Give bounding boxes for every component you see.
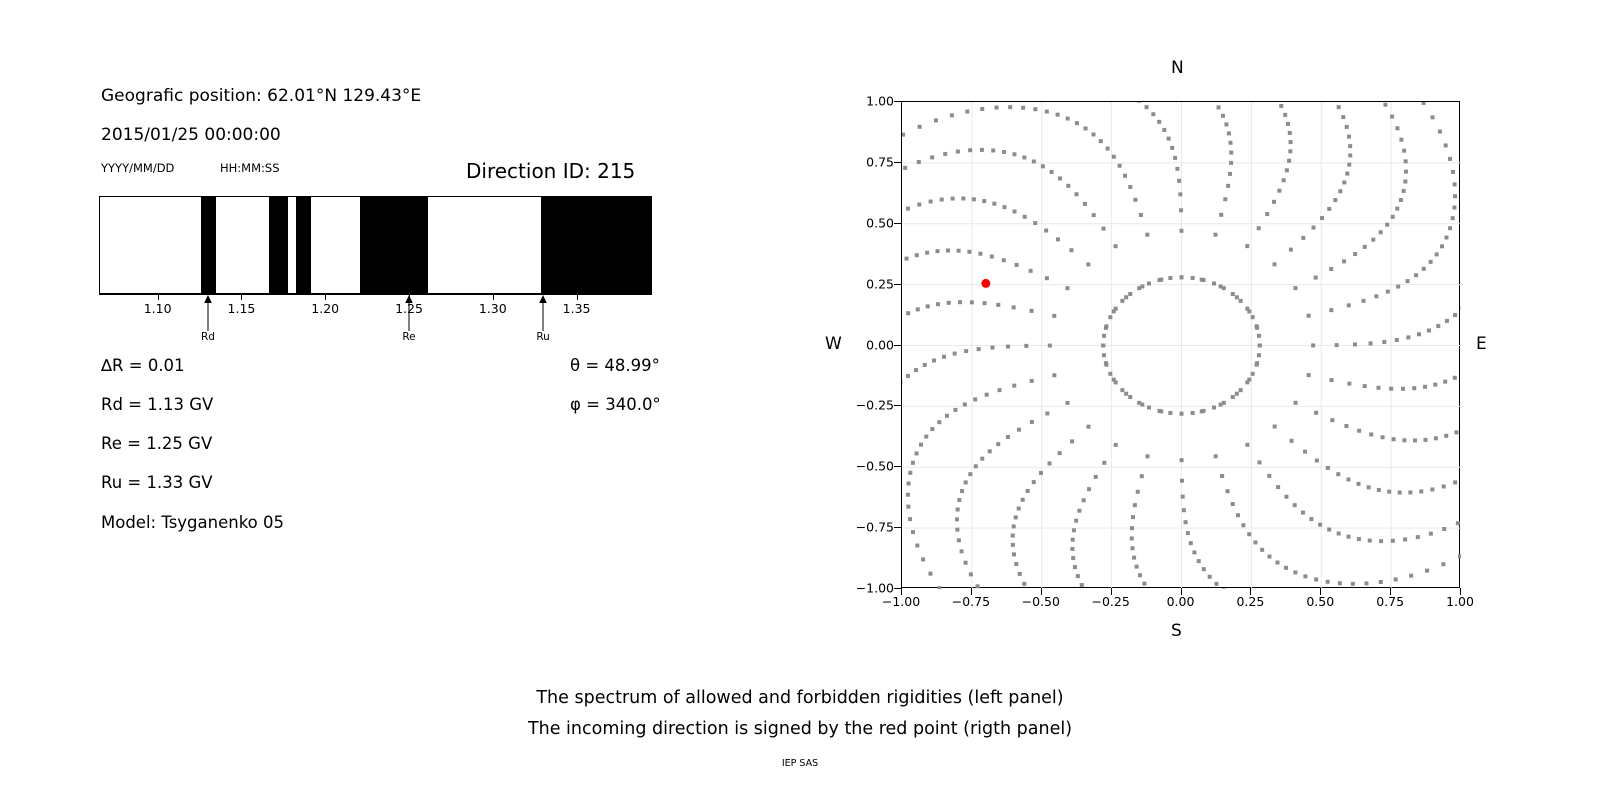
direction-point bbox=[1015, 263, 1019, 267]
direction-point bbox=[1327, 528, 1331, 532]
direction-point bbox=[1404, 159, 1408, 163]
direction-point bbox=[1347, 382, 1351, 386]
direction-point bbox=[1293, 503, 1297, 507]
direction-point bbox=[1429, 532, 1433, 536]
direction-point bbox=[1357, 429, 1361, 433]
direction-point bbox=[1208, 575, 1212, 579]
direction-point bbox=[1282, 178, 1286, 182]
direction-point bbox=[1180, 412, 1184, 416]
direction-point bbox=[978, 252, 982, 256]
direction-point bbox=[1412, 386, 1416, 390]
direction-point bbox=[988, 449, 992, 453]
direction-point bbox=[1379, 580, 1383, 584]
direction-point bbox=[1422, 102, 1426, 105]
direction-point bbox=[968, 148, 972, 152]
delta-r-value: ∆R = 0.01 bbox=[101, 358, 185, 375]
direction-point bbox=[1124, 392, 1128, 396]
direction-point bbox=[1251, 315, 1255, 319]
direction-point bbox=[1445, 319, 1449, 323]
direction-point bbox=[1022, 155, 1026, 159]
direction-point bbox=[1197, 559, 1201, 563]
direction-point bbox=[1341, 115, 1345, 119]
direction-point bbox=[1251, 372, 1255, 376]
direction-point bbox=[1058, 176, 1062, 180]
direction-point bbox=[1395, 126, 1399, 130]
direction-point bbox=[1139, 213, 1143, 217]
direction-point bbox=[1330, 418, 1334, 422]
direction-point bbox=[1451, 216, 1455, 220]
direction-point bbox=[1223, 197, 1227, 201]
direction-point bbox=[955, 528, 959, 532]
direction-point bbox=[1048, 461, 1052, 465]
direction-point bbox=[1170, 146, 1174, 150]
direction-point bbox=[1012, 152, 1016, 156]
direction-point bbox=[1401, 387, 1405, 391]
direction-point bbox=[1403, 179, 1407, 183]
direction-point bbox=[967, 250, 971, 254]
x-tick-label: 0.00 bbox=[1167, 594, 1195, 609]
direction-point bbox=[980, 457, 984, 461]
direction-point bbox=[1074, 519, 1078, 523]
direction-point bbox=[1395, 338, 1399, 342]
direction-point bbox=[1307, 373, 1311, 377]
direction-point bbox=[1159, 409, 1163, 413]
direction-point bbox=[1056, 113, 1060, 117]
direction-point bbox=[1130, 526, 1134, 530]
direction-point bbox=[930, 155, 934, 159]
direction-point bbox=[1080, 583, 1084, 587]
direction-point bbox=[1108, 372, 1112, 376]
direction-point bbox=[1345, 172, 1349, 176]
direction-point bbox=[1145, 233, 1149, 237]
y-tick-label: 0.75 bbox=[866, 154, 894, 169]
direction-point bbox=[950, 113, 954, 117]
direction-point bbox=[1404, 170, 1408, 174]
direction-point bbox=[934, 118, 938, 122]
y-tick-label: −0.50 bbox=[856, 459, 894, 474]
rd-value: Rd = 1.13 GV bbox=[101, 397, 213, 414]
rigidity-tick-label: 1.15 bbox=[228, 301, 256, 316]
direction-point bbox=[1219, 284, 1223, 288]
direction-point bbox=[902, 133, 905, 137]
direction-point bbox=[942, 355, 946, 359]
direction-point bbox=[1335, 343, 1339, 347]
direction-point bbox=[1146, 454, 1150, 458]
direction-point bbox=[1175, 167, 1179, 171]
direction-point bbox=[1138, 573, 1142, 577]
direction-point bbox=[953, 352, 957, 356]
direction-point bbox=[970, 300, 974, 304]
rigidity-tick-label: 1.35 bbox=[563, 301, 591, 316]
direction-point bbox=[977, 347, 981, 351]
caption-line-2: The incoming direction is signed by the … bbox=[0, 721, 1600, 739]
direction-id-label: Direction ID: 215 bbox=[466, 161, 635, 181]
rigidity-tick-mark bbox=[493, 294, 494, 300]
direction-point bbox=[1124, 295, 1128, 299]
direction-point bbox=[1012, 384, 1016, 388]
direction-point bbox=[1219, 213, 1223, 217]
direction-point bbox=[1239, 299, 1243, 303]
direction-point bbox=[1030, 420, 1034, 424]
direction-point bbox=[1348, 153, 1352, 157]
direction-point bbox=[1112, 309, 1116, 313]
y-tick-label: −0.75 bbox=[856, 520, 894, 535]
direction-point bbox=[1120, 299, 1124, 303]
direction-point bbox=[1403, 537, 1407, 541]
re-value: Re = 1.25 GV bbox=[101, 436, 212, 453]
direction-point bbox=[1344, 424, 1348, 428]
direction-point bbox=[1423, 385, 1427, 389]
theta-value: θ = 48.99° bbox=[570, 358, 660, 375]
direction-point bbox=[915, 451, 919, 455]
direction-point bbox=[1444, 143, 1448, 147]
direction-point bbox=[1453, 480, 1457, 484]
direction-point bbox=[957, 538, 961, 542]
direction-point bbox=[932, 358, 936, 362]
direction-point bbox=[918, 125, 922, 129]
direction-point bbox=[1189, 541, 1193, 545]
direction-point bbox=[1399, 138, 1403, 142]
direction-point bbox=[1231, 395, 1235, 399]
direction-point bbox=[1245, 244, 1249, 248]
direction-point bbox=[1180, 458, 1184, 462]
direction-point bbox=[1140, 403, 1144, 407]
direction-point bbox=[1422, 267, 1426, 271]
direction-point bbox=[1257, 353, 1261, 357]
footer-credit: IEP SAS bbox=[0, 759, 1600, 769]
x-tick-label: −0.50 bbox=[1022, 594, 1060, 609]
direction-point bbox=[1219, 403, 1223, 407]
direction-point bbox=[1006, 345, 1010, 349]
direction-point bbox=[1286, 122, 1290, 126]
direction-point bbox=[1102, 334, 1106, 338]
direction-point bbox=[1066, 184, 1070, 188]
direction-point bbox=[1330, 378, 1334, 382]
direction-point bbox=[1287, 159, 1291, 163]
direction-point bbox=[1337, 532, 1341, 536]
y-tick-label: 0.50 bbox=[866, 215, 894, 230]
direction-point bbox=[1032, 159, 1036, 163]
direction-point bbox=[1453, 182, 1457, 186]
direction-point bbox=[1077, 509, 1081, 513]
forbidden-band bbox=[201, 197, 216, 293]
direction-point bbox=[1033, 107, 1037, 111]
direction-point bbox=[1162, 128, 1166, 132]
direction-point bbox=[1311, 343, 1315, 347]
direction-point bbox=[1104, 361, 1108, 365]
direction-point bbox=[1441, 562, 1445, 566]
direction-point bbox=[1177, 179, 1181, 183]
direction-point bbox=[1014, 562, 1018, 566]
direction-point bbox=[1017, 507, 1021, 511]
direction-point bbox=[956, 508, 960, 512]
direction-point bbox=[1395, 207, 1399, 211]
direction-point bbox=[903, 166, 907, 170]
model-value: Model: Tsyganenko 05 bbox=[101, 515, 284, 532]
direction-point bbox=[1402, 149, 1406, 153]
direction-point bbox=[1419, 489, 1423, 493]
direction-point bbox=[1357, 482, 1361, 486]
direction-point bbox=[1379, 539, 1383, 543]
incoming-direction-point bbox=[981, 279, 990, 288]
y-tick-mark bbox=[894, 162, 901, 163]
rigidity-tick-label: 1.20 bbox=[311, 301, 339, 316]
rigidity-tick-label: 1.10 bbox=[144, 301, 172, 316]
direction-point bbox=[995, 106, 999, 110]
direction-point bbox=[1013, 210, 1017, 214]
direction-point bbox=[1073, 565, 1077, 569]
forbidden-band bbox=[269, 197, 287, 293]
direction-point bbox=[1136, 490, 1140, 494]
direction-point bbox=[1002, 205, 1006, 209]
direction-point bbox=[1229, 151, 1233, 155]
direction-point bbox=[1381, 435, 1385, 439]
direction-point bbox=[1347, 163, 1351, 167]
direction-point bbox=[1070, 547, 1074, 551]
direction-point bbox=[1326, 466, 1330, 470]
direction-point bbox=[1245, 443, 1249, 447]
y-tick-mark bbox=[894, 223, 901, 224]
direction-point bbox=[1030, 379, 1034, 383]
direction-point bbox=[1118, 164, 1122, 168]
direction-point bbox=[1442, 484, 1446, 488]
direction-point bbox=[1369, 432, 1373, 436]
direction-point bbox=[1086, 262, 1090, 266]
direction-point bbox=[911, 530, 915, 534]
direction-point bbox=[1128, 395, 1132, 399]
direction-point bbox=[1327, 207, 1331, 211]
direction-point bbox=[992, 202, 996, 206]
direction-point bbox=[1311, 226, 1315, 230]
direction-point bbox=[1425, 569, 1429, 573]
direction-point bbox=[1430, 487, 1434, 491]
y-tick-mark bbox=[894, 101, 901, 102]
direction-point bbox=[1235, 392, 1239, 396]
direction-point bbox=[1443, 380, 1447, 384]
direction-point bbox=[905, 257, 909, 261]
direction-point bbox=[1363, 384, 1367, 388]
direction-point bbox=[1413, 439, 1417, 443]
direction-point bbox=[1200, 278, 1204, 282]
direction-point bbox=[1293, 286, 1297, 290]
direction-point bbox=[929, 200, 933, 204]
direction-point bbox=[1290, 439, 1294, 443]
direction-point bbox=[1442, 527, 1446, 531]
direction-point bbox=[906, 311, 910, 315]
direction-point bbox=[1151, 112, 1155, 116]
direction-point bbox=[1014, 515, 1018, 519]
direction-point bbox=[1045, 411, 1049, 415]
direction-point bbox=[1357, 537, 1361, 541]
direction-point bbox=[1289, 248, 1293, 252]
direction-point bbox=[1284, 495, 1288, 499]
direction-point bbox=[1137, 102, 1141, 103]
direction-point bbox=[1011, 543, 1015, 547]
direction-point bbox=[1406, 279, 1410, 283]
direction-point bbox=[1087, 487, 1091, 491]
geographic-position-label: Geografic position: 62.01°N 129.43°E bbox=[101, 88, 421, 105]
direction-point bbox=[1011, 534, 1015, 538]
direction-point bbox=[1065, 286, 1069, 290]
direction-point bbox=[1309, 517, 1313, 521]
direction-point bbox=[964, 349, 968, 353]
direction-point bbox=[990, 346, 994, 350]
direction-point bbox=[1382, 340, 1386, 344]
direction-point bbox=[1383, 103, 1387, 107]
direction-point bbox=[1389, 387, 1393, 391]
forbidden-band bbox=[296, 197, 311, 293]
direction-point bbox=[1202, 567, 1206, 571]
direction-point bbox=[1145, 105, 1149, 109]
direction-point bbox=[1320, 216, 1324, 220]
x-tick-label: −0.75 bbox=[952, 594, 990, 609]
rigidity-tick-mark bbox=[577, 294, 578, 300]
direction-point bbox=[1329, 267, 1333, 271]
direction-point bbox=[951, 197, 955, 201]
direction-point bbox=[1453, 376, 1457, 380]
direction-point bbox=[1294, 401, 1298, 405]
direction-point bbox=[1241, 523, 1245, 527]
direction-point bbox=[1451, 170, 1455, 174]
rigidity-spectrum-panel: Geografic position: 62.01°N 129.43°E 201… bbox=[0, 0, 760, 800]
direction-point bbox=[1396, 285, 1400, 289]
direction-point bbox=[1267, 474, 1271, 478]
direction-point bbox=[911, 461, 915, 465]
direction-point bbox=[1029, 309, 1033, 313]
direction-point bbox=[1142, 582, 1146, 586]
direction-point bbox=[1167, 137, 1171, 141]
direction-point bbox=[943, 152, 947, 156]
direction-point bbox=[1253, 540, 1257, 544]
direction-point bbox=[972, 197, 976, 201]
direction-point bbox=[1012, 552, 1016, 556]
direction-point bbox=[919, 443, 923, 447]
direction-point bbox=[1265, 212, 1269, 216]
direction-point bbox=[1066, 401, 1070, 405]
direction-point bbox=[1448, 157, 1452, 161]
direction-point bbox=[1346, 477, 1350, 481]
direction-point bbox=[961, 196, 965, 200]
direction-point bbox=[1052, 373, 1056, 377]
direction-point bbox=[1416, 535, 1420, 539]
direction-point bbox=[1018, 572, 1022, 576]
direction-point bbox=[1276, 485, 1280, 489]
direction-point bbox=[1363, 245, 1367, 249]
direction-point bbox=[1130, 546, 1134, 550]
direction-point bbox=[1231, 292, 1235, 296]
direction-point bbox=[960, 489, 964, 493]
direction-point bbox=[1402, 189, 1406, 193]
direction-point bbox=[923, 363, 927, 367]
direction-point bbox=[1212, 281, 1216, 285]
direction-point bbox=[1438, 130, 1442, 134]
x-tick-label: −1.00 bbox=[882, 594, 920, 609]
direction-point bbox=[1247, 309, 1251, 313]
direction-point bbox=[945, 414, 949, 418]
direction-point bbox=[1301, 236, 1305, 240]
direction-point bbox=[956, 150, 960, 154]
direction-point bbox=[1402, 438, 1406, 442]
direction-point bbox=[1314, 411, 1318, 415]
x-tick-label: −0.25 bbox=[1091, 594, 1129, 609]
direction-point bbox=[1347, 535, 1351, 539]
direction-point bbox=[1342, 259, 1346, 263]
direction-point bbox=[1008, 105, 1012, 109]
compass-south-label: S bbox=[1171, 623, 1182, 640]
direction-point bbox=[1448, 226, 1452, 230]
direction-point bbox=[1222, 588, 1226, 589]
direction-point bbox=[1168, 411, 1172, 415]
direction-point bbox=[1353, 342, 1357, 346]
direction-point bbox=[1391, 539, 1395, 543]
y-tick-mark bbox=[894, 405, 901, 406]
direction-point bbox=[1217, 105, 1221, 109]
direction-point bbox=[1348, 144, 1352, 148]
direction-point bbox=[1140, 474, 1144, 478]
direction-point bbox=[1006, 435, 1010, 439]
direction-point bbox=[1345, 125, 1349, 129]
direction-point bbox=[906, 505, 910, 509]
incoming-direction-panel: N S W E −1.00−0.75−0.50−0.250.000.250.50… bbox=[760, 0, 1600, 800]
direction-point bbox=[1231, 502, 1235, 506]
direction-point bbox=[1427, 329, 1431, 333]
direction-point bbox=[1041, 164, 1045, 168]
direction-point bbox=[1255, 361, 1259, 365]
direction-point bbox=[1444, 434, 1448, 438]
direction-point bbox=[1307, 314, 1311, 318]
direction-point bbox=[1039, 471, 1043, 475]
direction-point bbox=[1106, 147, 1110, 151]
direction-point bbox=[925, 251, 929, 255]
direction-point bbox=[1436, 324, 1440, 328]
direction-point bbox=[1133, 198, 1137, 202]
direction-point bbox=[1184, 520, 1188, 524]
direction-point bbox=[1368, 539, 1372, 543]
direction-point bbox=[906, 493, 910, 497]
date-format-hint: YYYY/MM/DD bbox=[101, 163, 174, 175]
direction-point bbox=[1452, 206, 1456, 210]
y-tick-mark bbox=[894, 527, 901, 528]
direction-point bbox=[963, 402, 967, 406]
direction-point bbox=[1048, 344, 1052, 348]
direction-point bbox=[1023, 215, 1027, 219]
direction-point bbox=[1275, 561, 1279, 565]
y-tick-label: 0.00 bbox=[866, 337, 894, 352]
direction-point bbox=[1099, 139, 1103, 143]
direction-point bbox=[1409, 574, 1413, 578]
direction-point bbox=[1260, 548, 1264, 552]
direction-point bbox=[1024, 344, 1028, 348]
direction-point bbox=[947, 301, 951, 305]
forbidden-band bbox=[360, 197, 429, 293]
direction-point bbox=[1029, 269, 1033, 273]
direction-point bbox=[957, 249, 961, 253]
direction-point bbox=[973, 397, 977, 401]
rigidity-tick-mark bbox=[325, 294, 326, 300]
direction-point bbox=[908, 517, 912, 521]
direction-point bbox=[1082, 498, 1086, 502]
direction-point bbox=[1435, 252, 1439, 256]
direction-point bbox=[1076, 574, 1080, 578]
direction-point bbox=[1293, 570, 1297, 574]
direction-point bbox=[1102, 353, 1106, 357]
direction-point bbox=[976, 584, 980, 588]
direction-point bbox=[1168, 276, 1172, 280]
rigidity-marker-label: Rd bbox=[201, 331, 215, 343]
direction-point bbox=[1084, 126, 1088, 130]
direction-point bbox=[1408, 490, 1412, 494]
direction-point bbox=[1112, 155, 1116, 159]
